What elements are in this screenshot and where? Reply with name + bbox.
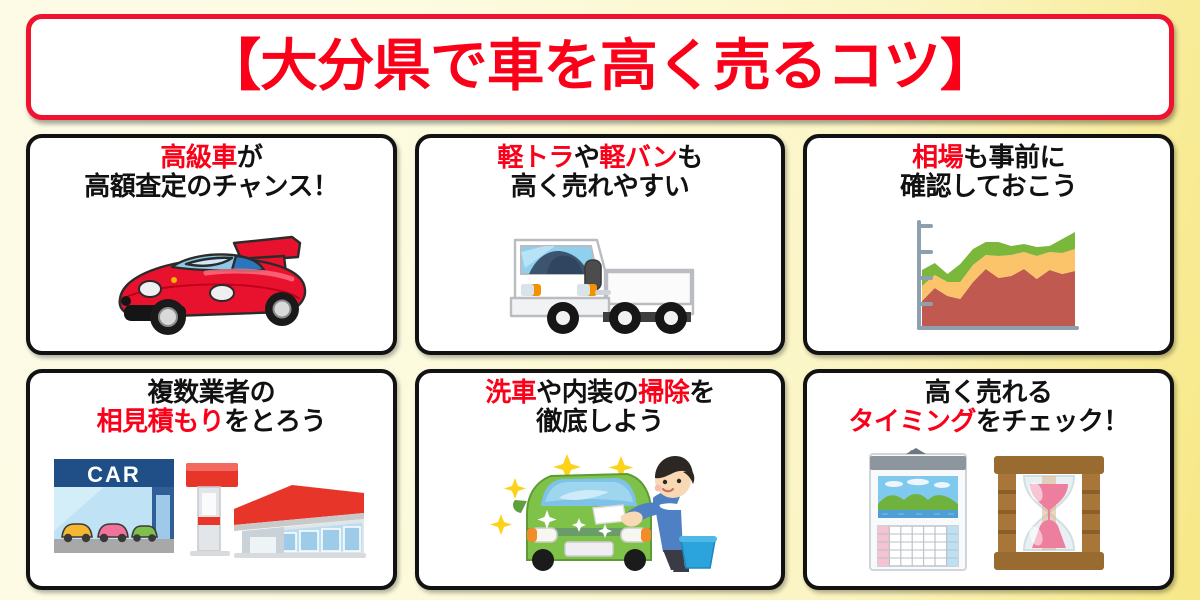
- tip-text-highlight: 軽トラ: [497, 143, 574, 173]
- infographic-root: 【大分県で車を高く売るコツ】 高級車が 高額査定のチャンス！: [0, 0, 1200, 600]
- tip-card-line-2: 徹底しよう: [425, 408, 776, 437]
- tip-card-line-1: 軽トラや軽バンも: [425, 144, 776, 173]
- tip-card-timing[interactable]: 高く売れる タイミングをチェック！: [803, 369, 1174, 590]
- tip-card-line-2: タイミングをチェック！: [813, 408, 1164, 437]
- tip-text-highlight: 軽バン: [599, 143, 677, 173]
- tip-card-multiple-quotes[interactable]: 複数業者の 相見積もりをとろう CAR: [26, 369, 397, 590]
- tip-text-plain: を: [689, 378, 715, 408]
- tip-card-kei-truck[interactable]: 軽トラや軽バンも 高く売れやすい: [415, 134, 786, 355]
- tips-grid: 高級車が 高額査定のチャンス！: [26, 134, 1174, 590]
- tip-card-line-2: 高く売れやすい: [425, 173, 776, 202]
- title-banner: 【大分県で車を高く売るコツ】: [26, 14, 1174, 120]
- tip-card-luxury-car[interactable]: 高級車が 高額査定のチャンス！: [26, 134, 397, 355]
- tip-card-line-1: 洗車や内装の掃除を: [425, 379, 776, 408]
- tip-card-heading: 高く売れる タイミングをチェック！: [807, 373, 1170, 437]
- tip-text-plain: も事前に: [963, 143, 1065, 173]
- tip-text-plain: 複数業者の: [148, 378, 276, 408]
- tip-card-line-2: 相見積もりをとろう: [36, 408, 387, 437]
- page-title: 【大分県で車を高く売るコツ】: [203, 39, 996, 95]
- car-dealership-shops-icon: CAR: [30, 437, 393, 586]
- tip-text-highlight: 洗車: [485, 378, 536, 408]
- tip-text-plain: や内装の: [536, 378, 638, 408]
- tip-card-line-1: 複数業者の: [36, 379, 387, 408]
- tip-text-plain: が: [237, 143, 263, 173]
- white-kei-truck-icon: [419, 202, 782, 351]
- tip-text-highlight: 掃除: [638, 378, 689, 408]
- tip-card-heading: 高級車が 高額査定のチャンス！: [30, 138, 393, 202]
- tip-card-heading: 複数業者の 相見積もりをとろう: [30, 373, 393, 437]
- tip-card-line-1: 高級車が: [36, 144, 387, 173]
- tip-card-heading: 軽トラや軽バンも 高く売れやすい: [419, 138, 782, 202]
- tip-card-heading: 相場も事前に 確認しておこう: [807, 138, 1170, 202]
- tip-text-plain: をチェック！: [976, 407, 1129, 437]
- tip-text-plain: も: [677, 143, 703, 173]
- person-washing-green-car-icon: [419, 437, 782, 586]
- tip-text-plain: や: [574, 143, 600, 173]
- tip-text-plain: をとろう: [224, 407, 326, 437]
- tip-card-line-1: 相場も事前に: [813, 144, 1164, 173]
- tip-card-line-1: 高く売れる: [813, 379, 1164, 408]
- tip-text-plain: 高く売れやすい: [511, 172, 690, 202]
- tip-text-highlight: 相見積もり: [97, 407, 225, 437]
- calendar-and-hourglass-icon: [807, 437, 1170, 586]
- tip-card-line-2: 確認しておこう: [813, 173, 1164, 202]
- svg-text:CAR: CAR: [87, 462, 141, 487]
- stacked-area-chart-icon: [807, 202, 1170, 351]
- tip-card-heading: 洗車や内装の掃除を 徹底しよう: [419, 373, 782, 437]
- tip-text-plain: 高く売れる: [925, 378, 1053, 408]
- tip-text-highlight: タイミング: [848, 407, 976, 437]
- tip-text-plain: 徹底しよう: [536, 407, 664, 437]
- tip-text-highlight: 相場: [912, 143, 963, 173]
- red-sports-car-icon: [30, 202, 393, 351]
- tip-text-plain: 確認しておこう: [900, 172, 1077, 202]
- tip-card-car-wash[interactable]: 洗車や内装の掃除を 徹底しよう: [415, 369, 786, 590]
- tip-card-market-price[interactable]: 相場も事前に 確認しておこう: [803, 134, 1174, 355]
- tip-text-highlight: 高級車: [160, 143, 237, 173]
- tip-text-plain: 高額査定のチャンス！: [84, 172, 338, 202]
- tip-card-line-2: 高額査定のチャンス！: [36, 173, 387, 202]
